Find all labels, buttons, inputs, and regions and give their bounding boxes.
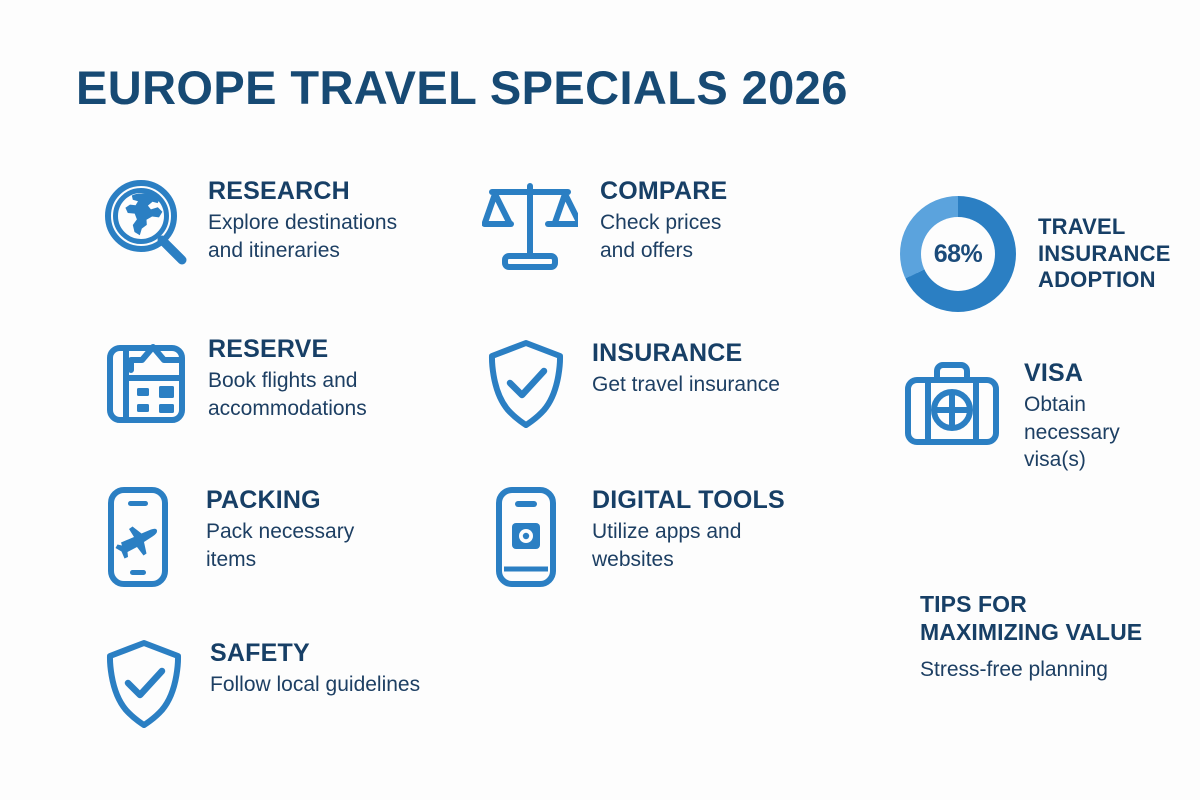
balance-scales-icon: [482, 176, 578, 276]
step-heading: RESEARCH: [208, 178, 397, 205]
step-item-compare: COMPARE Check prices and offers: [482, 176, 727, 276]
suitcase-globe-icon: [902, 358, 1002, 454]
shield-check-icon: [100, 638, 188, 730]
step-subtext-line1: Explore destinations: [208, 209, 397, 237]
tips-heading-line1: TIPS FOR: [920, 590, 1195, 618]
step-subtext: Follow local guidelines: [210, 671, 420, 699]
step-heading: DIGITAL TOOLS: [592, 487, 785, 514]
stat-label: TRAVEL INSURANCE ADOPTION: [1038, 214, 1171, 293]
step-text-digital-tools: DIGITAL TOOLS Utilize apps and websites: [592, 485, 785, 573]
step-subtext-line1: Obtain: [1024, 391, 1120, 419]
step-heading: VISA: [1024, 360, 1120, 387]
step-item-insurance: INSURANCE Get travel insurance: [482, 338, 780, 430]
donut-hole: 68%: [921, 217, 995, 291]
step-subtext-line2: websites: [592, 546, 785, 574]
step-subtext: Check prices and offers: [600, 209, 727, 264]
infographic-canvas: EUROPE TRAVEL SPECIALS 2026 RESEARCH Exp…: [0, 0, 1200, 800]
step-subtext: Pack necessary items: [206, 518, 354, 573]
page-title: EUROPE TRAVEL SPECIALS 2026: [76, 60, 848, 115]
step-text-compare: COMPARE Check prices and offers: [600, 176, 727, 264]
step-subtext-line2: necessary: [1024, 419, 1120, 447]
step-text-reserve: RESERVE Book flights and accommodations: [208, 334, 367, 422]
shield-check-icon: [482, 338, 570, 430]
globe-magnifier-icon: [98, 176, 194, 272]
step-subtext: Explore destinations and itineraries: [208, 209, 397, 264]
step-subtext-line2: and offers: [600, 237, 727, 265]
tips-block: TIPS FOR MAXIMIZING VALUE Stress-free pl…: [920, 590, 1195, 682]
step-subtext: Obtain necessary visa(s): [1024, 391, 1120, 474]
tips-subtext: Stress-free planning: [920, 658, 1195, 682]
step-text-visa: VISA Obtain necessary visa(s): [1024, 358, 1120, 474]
step-subtext-line3: visa(s): [1024, 446, 1120, 474]
step-heading: INSURANCE: [592, 340, 780, 367]
step-subtext-line2: and itineraries: [208, 237, 397, 265]
step-text-insurance: INSURANCE Get travel insurance: [592, 338, 780, 399]
step-subtext-line1: Book flights and: [208, 367, 367, 395]
step-subtext: Book flights and accommodations: [208, 367, 367, 422]
step-item-research: RESEARCH Explore destinations and itiner…: [98, 176, 397, 272]
step-subtext-line1: Get travel insurance: [592, 371, 780, 399]
step-item-digital-tools: DIGITAL TOOLS Utilize apps and websites: [490, 485, 785, 589]
step-text-packing: PACKING Pack necessary items: [206, 485, 354, 573]
phone-app-icon: [490, 485, 562, 589]
step-item-safety: SAFETY Follow local guidelines: [100, 638, 420, 730]
step-subtext: Get travel insurance: [592, 371, 780, 399]
step-heading: PACKING: [206, 487, 354, 514]
step-heading: COMPARE: [600, 178, 727, 205]
tips-heading: TIPS FOR MAXIMIZING VALUE: [920, 590, 1195, 646]
step-text-research: RESEARCH Explore destinations and itiner…: [208, 176, 397, 264]
step-subtext-line2: items: [206, 546, 354, 574]
step-item-packing: PACKING Pack necessary items: [100, 485, 354, 589]
step-subtext-line1: Pack necessary: [206, 518, 354, 546]
step-text-safety: SAFETY Follow local guidelines: [210, 638, 420, 699]
donut-chart-icon: 68%: [900, 196, 1016, 312]
step-item-reserve: RESERVE Book flights and accommodations: [98, 334, 367, 430]
step-subtext-line1: Follow local guidelines: [210, 671, 420, 699]
step-item-visa: VISA Obtain necessary visa(s): [902, 358, 1120, 474]
step-subtext-line1: Utilize apps and: [592, 518, 785, 546]
booking-ticket-icon: [98, 334, 194, 430]
stat-label-line3: ADOPTION: [1038, 267, 1171, 293]
phone-airplane-icon: [100, 485, 176, 589]
stat-label-line1: TRAVEL: [1038, 214, 1171, 240]
step-subtext-line1: Check prices: [600, 209, 727, 237]
stat-label-line2: INSURANCE: [1038, 241, 1171, 267]
step-heading: RESERVE: [208, 336, 367, 363]
step-subtext-line2: accommodations: [208, 395, 367, 423]
stat-travel-insurance-adoption: 68% TRAVEL INSURANCE ADOPTION: [900, 196, 1171, 312]
step-subtext: Utilize apps and websites: [592, 518, 785, 573]
donut-value-label: 68%: [934, 240, 983, 269]
step-heading: SAFETY: [210, 640, 420, 667]
tips-heading-line2: MAXIMIZING VALUE: [920, 618, 1195, 646]
